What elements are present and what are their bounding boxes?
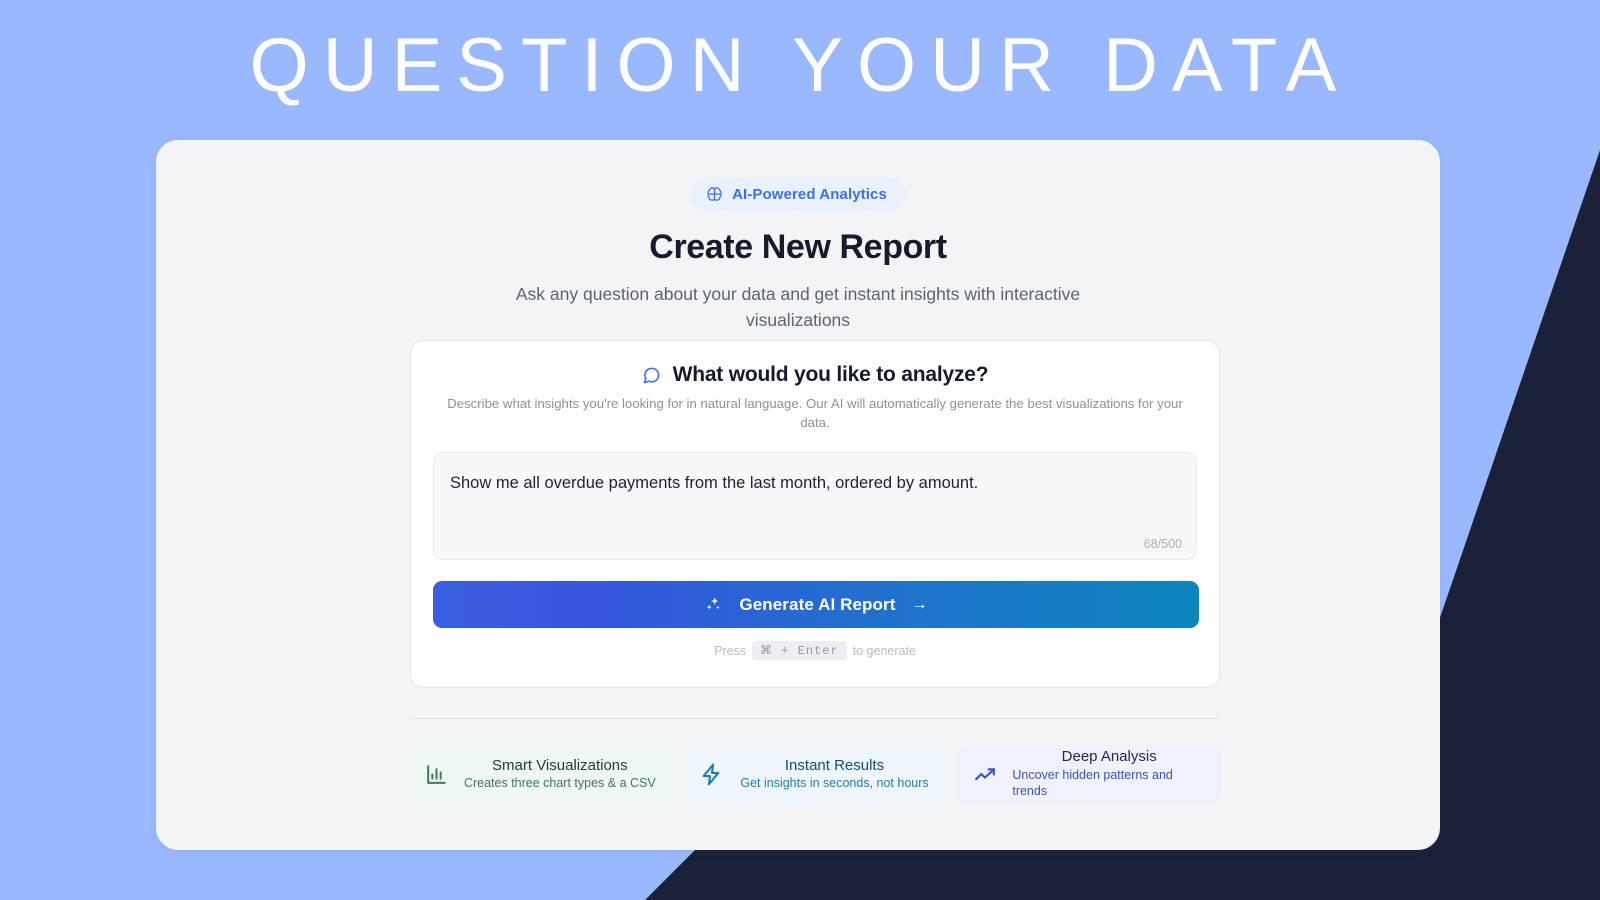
lightning-bolt-icon xyxy=(699,762,724,787)
character-counter: 68/500 xyxy=(1144,537,1182,551)
feature-subtitle: Uncover hidden patterns and trends xyxy=(1012,767,1206,800)
section-divider xyxy=(410,718,1220,719)
feature-card-deep-analysis: Deep Analysis Uncover hidden patterns an… xyxy=(957,745,1222,803)
prompt-textarea[interactable]: Show me all overdue payments from the la… xyxy=(433,452,1197,560)
feature-subtitle: Creates three chart types & a CSV xyxy=(464,775,656,791)
hero-title: QUESTION YOUR DATA xyxy=(0,22,1600,109)
badge-label: AI-Powered Analytics xyxy=(732,186,887,203)
prompt-description: Describe what insights you're looking fo… xyxy=(444,394,1186,432)
feature-subtitle: Get insights in seconds, not hours xyxy=(740,775,928,791)
feature-title: Smart Visualizations xyxy=(492,757,628,776)
trending-up-icon xyxy=(973,762,998,787)
feature-texts: Smart Visualizations Creates three chart… xyxy=(463,757,657,792)
message-square-icon xyxy=(642,366,661,385)
page-title: Create New Report xyxy=(156,228,1440,267)
feature-title: Deep Analysis xyxy=(1062,748,1157,767)
feature-title: Instant Results xyxy=(785,757,884,776)
generate-ai-report-button[interactable]: Generate AI Report → xyxy=(433,581,1199,628)
keyboard-hint-prefix: Press xyxy=(714,644,746,658)
keyboard-hint-suffix: to generate xyxy=(853,644,916,658)
brain-icon xyxy=(706,186,723,203)
feature-texts: Instant Results Get insights in seconds,… xyxy=(738,757,932,792)
generate-button-label: Generate AI Report xyxy=(739,595,895,615)
sparkles-icon xyxy=(704,595,723,614)
prompt-textarea-value[interactable]: Show me all overdue payments from the la… xyxy=(450,471,1178,496)
main-panel: AI-Powered Analytics Create New Report A… xyxy=(156,140,1440,850)
ai-powered-analytics-badge: AI-Powered Analytics xyxy=(689,178,907,211)
keyboard-shortcut-hint: Press ⌘ + Enter to generate xyxy=(433,641,1197,660)
feature-card-instant-results: Instant Results Get insights in seconds,… xyxy=(683,745,948,803)
keyboard-shortcut-key: ⌘ + Enter xyxy=(752,641,847,660)
prompt-card: What would you like to analyze? Describe… xyxy=(410,340,1220,688)
badge-row: AI-Powered Analytics xyxy=(156,178,1440,211)
feature-card-smart-visualizations: Smart Visualizations Creates three chart… xyxy=(408,745,673,803)
arrow-right-icon: → xyxy=(912,596,928,614)
prompt-header: What would you like to analyze? xyxy=(433,363,1197,387)
prompt-heading: What would you like to analyze? xyxy=(673,363,989,387)
feature-list: Smart Visualizations Creates three chart… xyxy=(408,745,1222,803)
feature-texts: Deep Analysis Uncover hidden patterns an… xyxy=(1012,748,1206,799)
bar-chart-icon xyxy=(424,762,449,787)
page-subtitle: Ask any question about your data and get… xyxy=(493,281,1103,334)
